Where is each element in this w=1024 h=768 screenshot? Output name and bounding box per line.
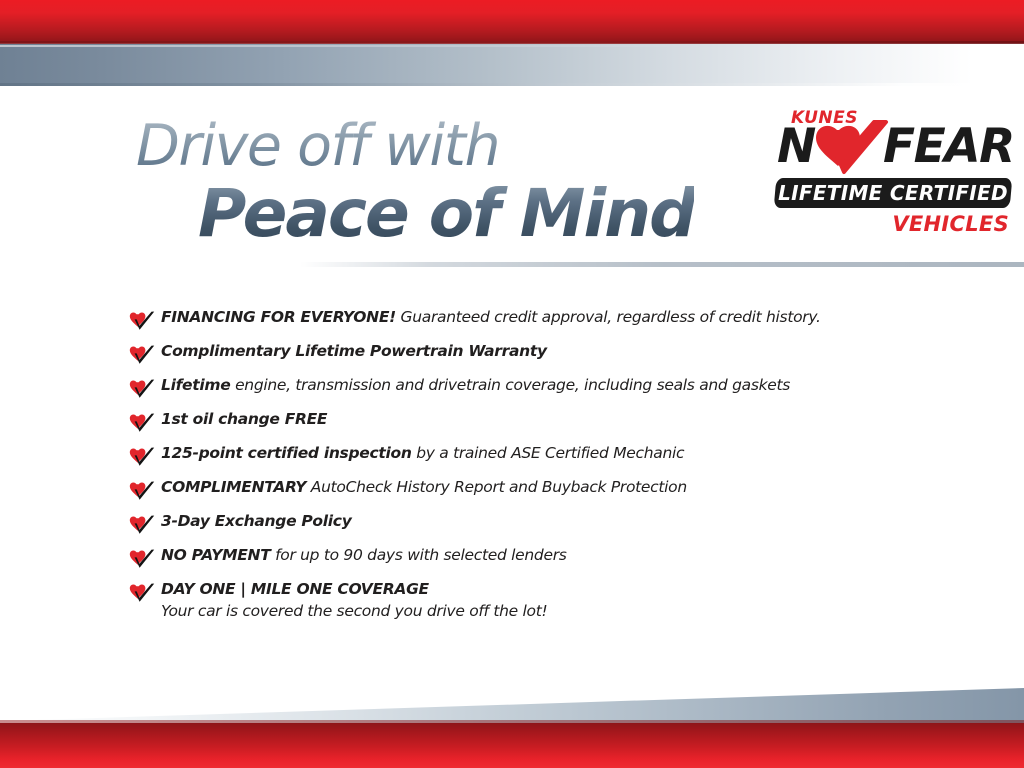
heart-check-icon [129, 412, 155, 434]
headline-line-2: Peace of Mind [198, 181, 694, 247]
list-item: Complimentary Lifetime Powertrain Warran… [129, 342, 929, 366]
bottom-gray-wedge [0, 688, 1024, 724]
logo-lifetime-banner-text: LIFETIME CERTIFIED [775, 178, 1011, 208]
top-gray-shadow [0, 83, 1024, 86]
heart-check-icon [129, 548, 155, 570]
list-item-text: 125-point certified inspection by a trai… [155, 444, 929, 463]
list-item-strong: 1st oil change FREE [161, 410, 327, 428]
heart-check-icon [129, 514, 155, 536]
list-item: FINANCING FOR EVERYONE! Guaranteed credi… [129, 308, 929, 332]
list-item: Lifetime engine, transmission and drivet… [129, 376, 929, 400]
list-item-text: DAY ONE | MILE ONE COVERAGE Your car is … [155, 580, 929, 621]
list-item-text: COMPLIMENTARY AutoCheck History Report a… [155, 478, 929, 497]
heart-check-icon [129, 344, 155, 366]
list-item-text: Complimentary Lifetime Powertrain Warran… [155, 342, 929, 361]
heart-check-mark-icon [812, 120, 890, 182]
list-item-text: 3-Day Exchange Policy [155, 512, 929, 531]
heart-check-icon [129, 310, 155, 332]
flyer-page: Drive off with Peace of Mind KUNES N FEA… [0, 0, 1024, 768]
list-item: 3-Day Exchange Policy [129, 512, 929, 536]
list-item-rest: Guaranteed credit approval, regardless o… [396, 308, 821, 326]
list-item: DAY ONE | MILE ONE COVERAGE Your car is … [129, 580, 929, 621]
list-item-strong: FINANCING FOR EVERYONE! [161, 308, 396, 326]
logo-word-n: N [777, 123, 815, 170]
list-item: NO PAYMENT for up to 90 days with select… [129, 546, 929, 570]
heart-check-icon [129, 446, 155, 468]
heart-check-icon [129, 378, 155, 400]
heart-check-icon [129, 582, 155, 604]
list-item-text: 1st oil change FREE [155, 410, 929, 429]
list-item-strong: Lifetime [161, 376, 230, 394]
list-item-rest: AutoCheck History Report and Buyback Pro… [306, 478, 687, 496]
list-item-strong: NO PAYMENT [161, 546, 270, 564]
top-red-bar [0, 0, 1024, 43]
list-item-rest: for up to 90 days with selected lenders [270, 546, 566, 564]
list-item: 1st oil change FREE [129, 410, 929, 434]
bottom-red-bar [0, 723, 1024, 768]
list-item: 125-point certified inspection by a trai… [129, 444, 929, 468]
list-item-strong: Complimentary Lifetime Powertrain Warran… [161, 342, 547, 360]
heart-check-icon [129, 480, 155, 502]
header-divider [300, 262, 1024, 267]
logo-vehicles-text: VEHICLES [892, 212, 1009, 236]
list-item-text: FINANCING FOR EVERYONE! Guaranteed credi… [155, 308, 929, 327]
list-item-strong: 125-point certified inspection [161, 444, 412, 462]
list-item-rest: by a trained ASE Certified Mechanic [412, 444, 685, 462]
top-gray-highlight [0, 45, 1024, 47]
list-item-strong: COMPLIMENTARY [161, 478, 306, 496]
top-gray-bar [0, 44, 1024, 86]
logo-word-fear: FEAR [883, 123, 1014, 170]
list-item-subtext: Your car is covered the second you drive… [161, 602, 929, 621]
page-title: Drive off with Peace of Mind [136, 118, 694, 247]
kunes-no-fear-logo: KUNES N FEAR LIFETIME CERTIFIED VEHICLES [775, 108, 1015, 240]
list-item-text: Lifetime engine, transmission and drivet… [155, 376, 929, 395]
list-item: COMPLIMENTARY AutoCheck History Report a… [129, 478, 929, 502]
list-item-strong: 3-Day Exchange Policy [161, 512, 352, 530]
benefits-list: FINANCING FOR EVERYONE! Guaranteed credi… [129, 308, 929, 631]
headline-line-1: Drive off with [136, 118, 694, 175]
list-item-rest: engine, transmission and drivetrain cove… [230, 376, 790, 394]
list-item-text: NO PAYMENT for up to 90 days with select… [155, 546, 929, 565]
list-item-strong: DAY ONE | MILE ONE COVERAGE [161, 580, 429, 598]
